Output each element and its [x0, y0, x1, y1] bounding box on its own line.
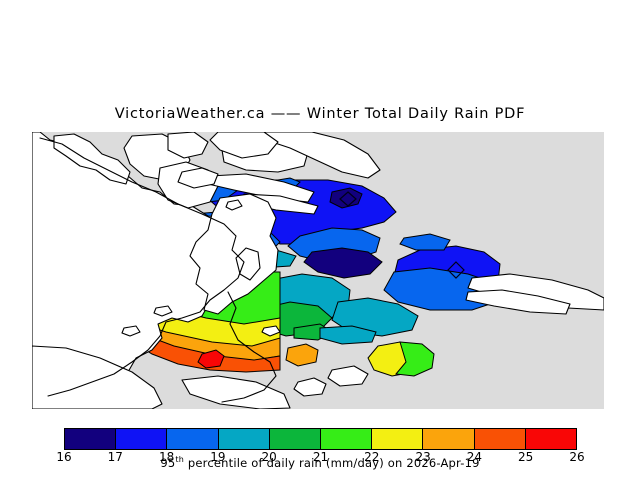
colorbar[interactable] — [64, 428, 577, 450]
colorbar-segment-20-21[interactable] — [270, 429, 321, 449]
colorbar-segment-21-22[interactable] — [321, 429, 372, 449]
colorbar-segment-23-24[interactable] — [423, 429, 474, 449]
weather-map-page: VictoriaWeather.ca —— Winter Total Daily… — [0, 0, 640, 480]
map-panel — [32, 132, 604, 409]
colorbar-segment-25-26[interactable] — [526, 429, 576, 449]
page-title: VictoriaWeather.ca —— Winter Total Daily… — [0, 106, 640, 122]
caption-text: percentile of daily rain (mm/day) on 202… — [184, 456, 480, 470]
colorbar-segment-19-20[interactable] — [219, 429, 270, 449]
colorbar-segment-17-18[interactable] — [116, 429, 167, 449]
map-canvas — [32, 132, 604, 409]
caption-value: 95 — [160, 456, 175, 470]
contour-isolated-orange — [286, 344, 318, 366]
colorbar-panel: 1617181920212223242526 — [0, 420, 640, 480]
colorbar-caption: 95th percentile of daily rain (mm/day) o… — [0, 455, 640, 470]
caption-ordinal-suffix: th — [175, 455, 184, 464]
colorbar-segment-18-19[interactable] — [167, 429, 218, 449]
colorbar-segment-24-25[interactable] — [475, 429, 526, 449]
colorbar-segment-22-23[interactable] — [372, 429, 423, 449]
colorbar-segment-16-17[interactable] — [65, 429, 116, 449]
